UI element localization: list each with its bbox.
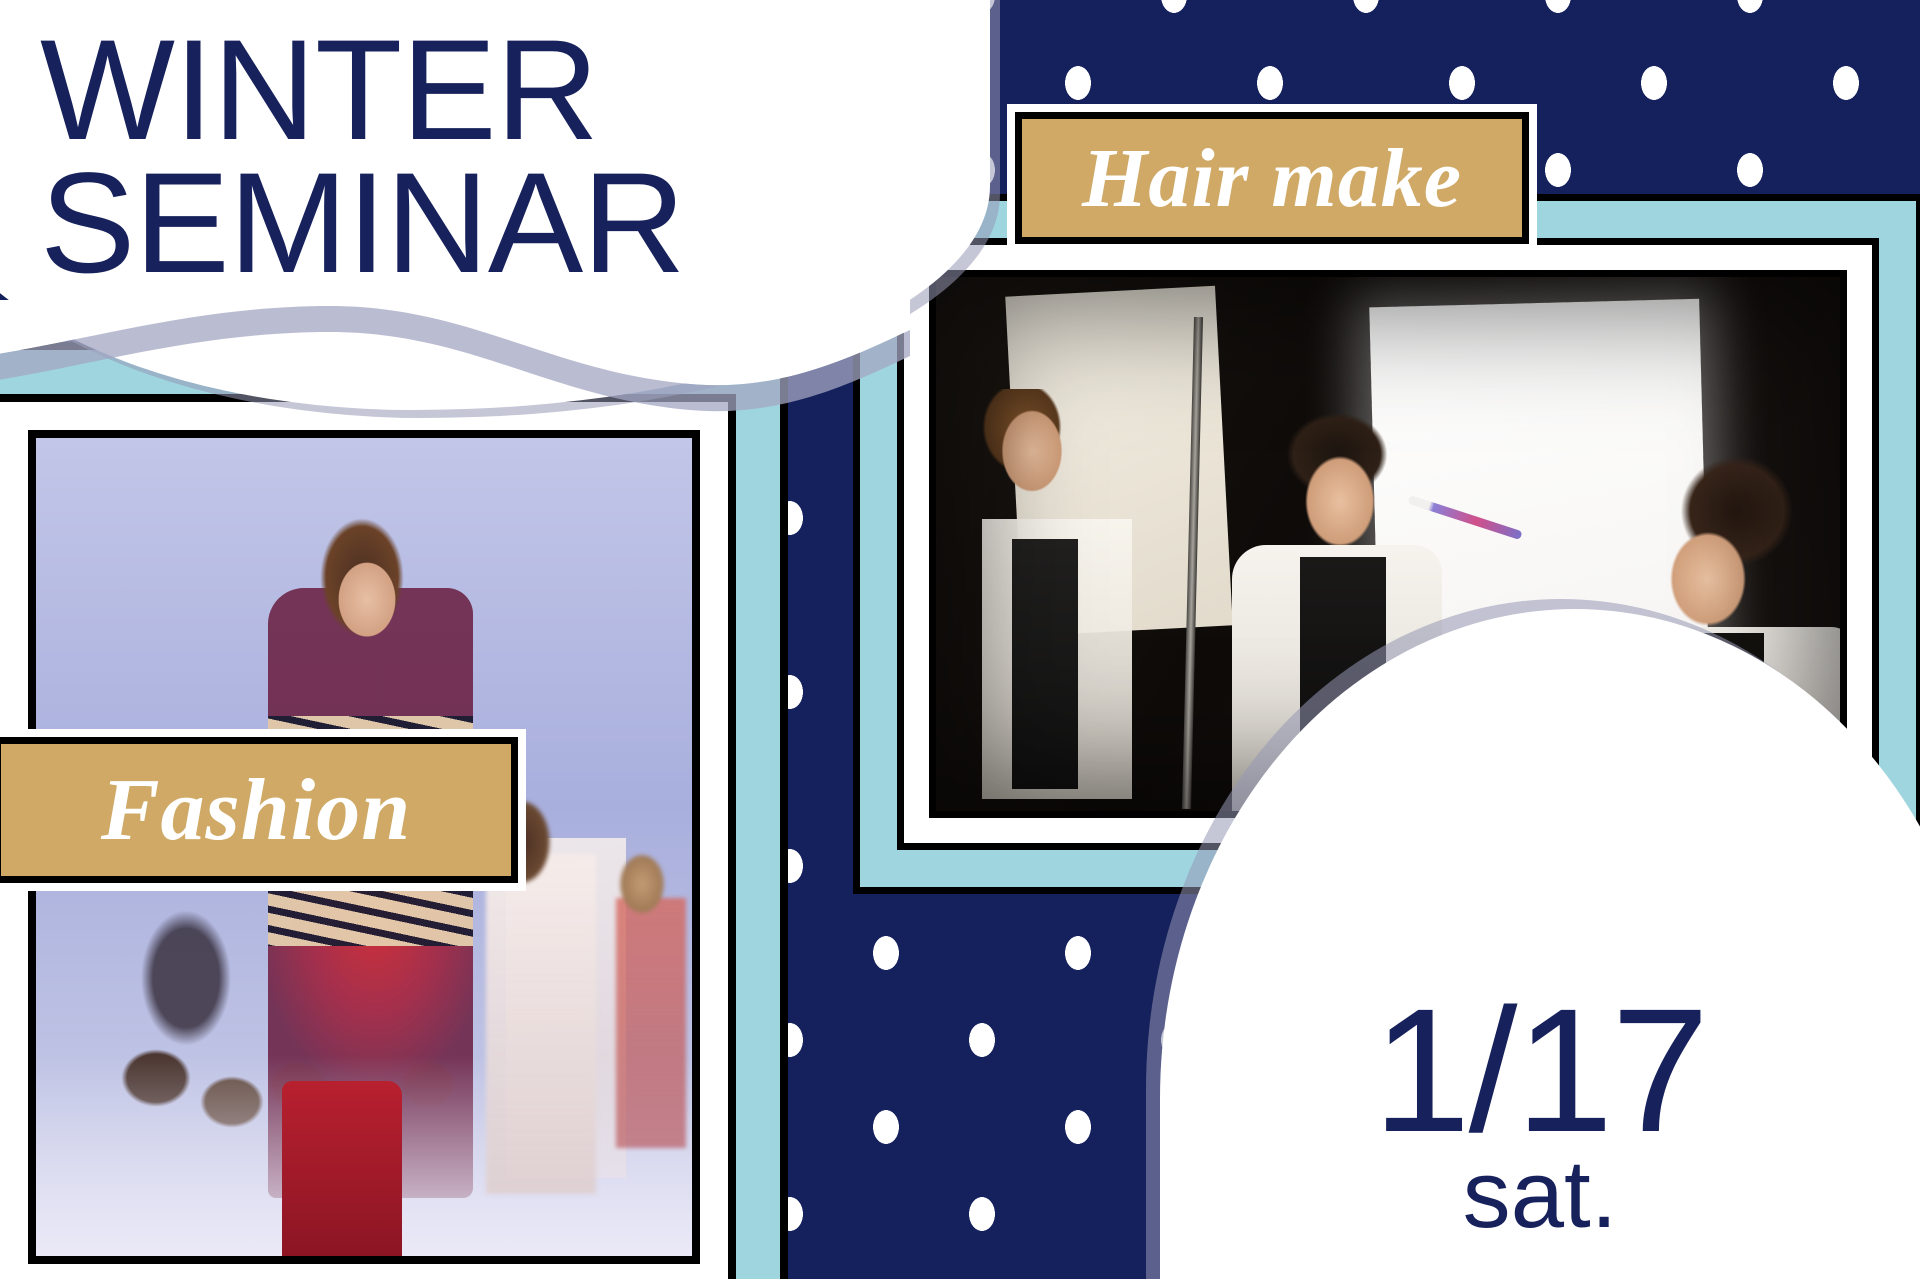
label-black-border: Hair make <box>1015 112 1529 244</box>
model-skirt <box>282 1081 402 1256</box>
artist-face <box>1288 437 1392 561</box>
title-blob-wave-edge <box>0 300 910 460</box>
fashion-label: Fashion <box>0 729 526 891</box>
hair-make-label-text: Hair make <box>1022 119 1522 237</box>
assistant-vest <box>1012 539 1078 789</box>
fashion-label-text: Fashion <box>1 744 511 876</box>
event-date: 1/17 sat. <box>1280 991 1800 1243</box>
date-weekday: sat. <box>1280 1147 1800 1243</box>
hair-make-label: Hair make <box>1007 104 1537 252</box>
assistant-figure <box>960 389 1156 809</box>
label-black-border: Fashion <box>0 737 518 883</box>
page-title: WINTER SEMINAR <box>40 24 685 290</box>
date-day: 1/17 <box>1280 991 1800 1153</box>
poster-canvas: WINTER SEMINAR Hair make Fashion 1/17 sa… <box>0 0 1920 1279</box>
